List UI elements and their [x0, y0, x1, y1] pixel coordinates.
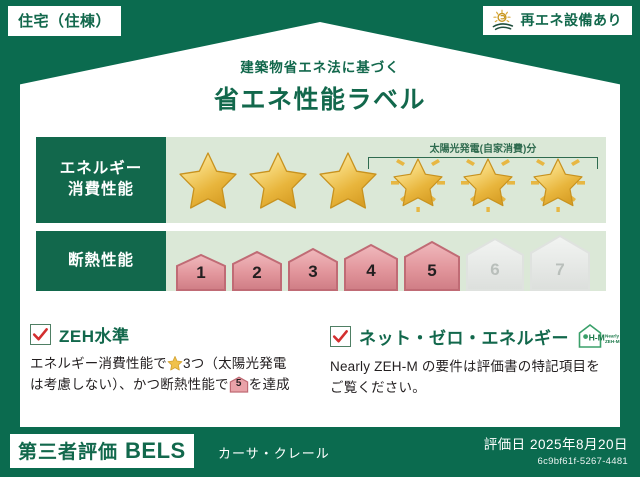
- star-solid-1: [174, 147, 242, 213]
- energy-consumption-row: エネルギー 消費性能 太陽光発電(自家消費)分: [36, 137, 606, 223]
- building-name: カーサ・クレール: [218, 443, 330, 462]
- inline-star-icon: [167, 355, 183, 371]
- zeh-desc-part3: を達成: [249, 377, 290, 392]
- insulation-badge-1-value: 1: [174, 263, 228, 283]
- insulation-badge-5: 5: [402, 240, 462, 291]
- bels-badge-jp-label: 第三者評価: [18, 437, 118, 464]
- insulation-badge-2-value: 2: [230, 263, 284, 283]
- insulation-badge-4: 4: [342, 243, 400, 291]
- label-footer: 第三者評価 BELS カーサ・クレール 評価日 2025年8月20日 6c9bf…: [0, 427, 640, 477]
- net-zero-energy-title: ネット・ゼロ・エネルギー: [359, 324, 569, 349]
- insulation-label-text: 断熱性能: [68, 251, 134, 272]
- insulation-badge-3-value: 3: [286, 262, 340, 282]
- zeh-desc-part2: は考慮しない）、かつ断熱性能で: [30, 377, 229, 392]
- zeh-desc-part1: エネルギー消費性能で: [30, 356, 167, 371]
- insulation-badge-5-value: 5: [402, 261, 462, 281]
- net-zero-energy-description: Nearly ZEH-M の要件は評価書の特記項目をご覧ください。: [330, 357, 610, 399]
- inline-insulation-badge-value: 5: [229, 376, 249, 392]
- insulation-badge-1: 1: [174, 253, 228, 291]
- zeh-standard-title: ZEH水準: [59, 322, 130, 347]
- building-type-tag-label: 住宅（住棟）: [18, 10, 111, 31]
- logo-caption-zehm: ZEH-M: [605, 339, 620, 344]
- label-subtitle: 建築物省エネ法に基づく: [0, 56, 640, 76]
- building-type-tag: 住宅（住棟）: [8, 6, 121, 36]
- zeh-standard-header: ZEH水準: [30, 322, 310, 347]
- star-sparkle-4: [384, 147, 452, 213]
- insulation-badge-4-value: 4: [342, 261, 400, 281]
- bels-badge: 第三者評価 BELS: [10, 434, 194, 468]
- sun-renewable-icon: [491, 9, 515, 31]
- net-zero-energy-header: ネット・ゼロ・エネルギー H-M Nearly ZEH-M: [330, 322, 610, 350]
- svg-text:H-M: H-M: [589, 332, 605, 342]
- logo-caption-nearly: Nearly: [605, 334, 619, 339]
- renewable-equipment-tag-label: 再エネ設備あり: [521, 10, 623, 30]
- check-icon: [330, 326, 351, 347]
- zeh-desc-star-count: 3つ（太陽光発電: [183, 356, 287, 371]
- insulation-grade-badges: 1 2 3 4: [166, 231, 592, 291]
- zeh-standard-column: ZEH水準 エネルギー消費性能で3つ（太陽光発電は考慮しない）、かつ断熱性能で5…: [30, 322, 310, 399]
- label-title: 省エネ性能ラベル: [0, 80, 640, 116]
- energy-performance-label: 住宅（住棟） 再エネ設備あり 建築物省エネ法に基づく 省エネ性能ラベル: [0, 0, 640, 477]
- check-icon: [30, 324, 51, 345]
- insulation-badge-7-value: 7: [528, 260, 592, 280]
- evaluation-info: 評価日 2025年8月20日 6c9bf61f-5267-4481: [484, 433, 628, 467]
- evaluation-id: 6c9bf61f-5267-4481: [484, 456, 628, 467]
- insulation-badge-6: 6: [464, 237, 526, 291]
- renewable-equipment-tag: 再エネ設備あり: [483, 6, 633, 35]
- insulation-row-label: 断熱性能: [36, 231, 166, 291]
- star-rating: [166, 147, 606, 213]
- nearly-zeh-m-logo-icon: H-M Nearly ZEH-M: [577, 322, 625, 350]
- energy-consumption-label-line1: エネルギー: [60, 159, 143, 180]
- evaluation-date: 評価日 2025年8月20日: [484, 433, 628, 453]
- energy-consumption-label-line2: 消費性能: [68, 180, 134, 201]
- insulation-badge-3: 3: [286, 247, 340, 291]
- energy-consumption-stars-panel: 太陽光発電(自家消費)分: [166, 137, 606, 223]
- insulation-badge-2: 2: [230, 250, 284, 291]
- criteria-columns: ZEH水準 エネルギー消費性能で3つ（太陽光発電は考慮しない）、かつ断熱性能で5…: [30, 322, 610, 399]
- star-sparkle-5: [454, 147, 522, 213]
- energy-consumption-row-label: エネルギー 消費性能: [36, 137, 166, 223]
- star-solid-3: [314, 147, 382, 213]
- net-zero-energy-column: ネット・ゼロ・エネルギー H-M Nearly ZEH-M Nearly ZEH…: [330, 322, 610, 399]
- inline-insulation-badge: 5: [229, 376, 249, 393]
- zeh-standard-description: エネルギー消費性能で3つ（太陽光発電は考慮しない）、かつ断熱性能で5を達成: [30, 354, 310, 396]
- star-solid-2: [244, 147, 312, 213]
- insulation-badges-panel: 1 2 3 4: [166, 231, 606, 291]
- bels-badge-en-label: BELS: [125, 438, 186, 464]
- label-title-block: 建築物省エネ法に基づく 省エネ性能ラベル: [0, 56, 640, 116]
- insulation-row: 断熱性能 1 2: [36, 231, 606, 291]
- insulation-badge-6-value: 6: [464, 260, 526, 280]
- insulation-badge-7: 7: [528, 234, 592, 291]
- star-sparkle-6: [524, 147, 592, 213]
- performance-rows: エネルギー 消費性能 太陽光発電(自家消費)分: [36, 137, 606, 291]
